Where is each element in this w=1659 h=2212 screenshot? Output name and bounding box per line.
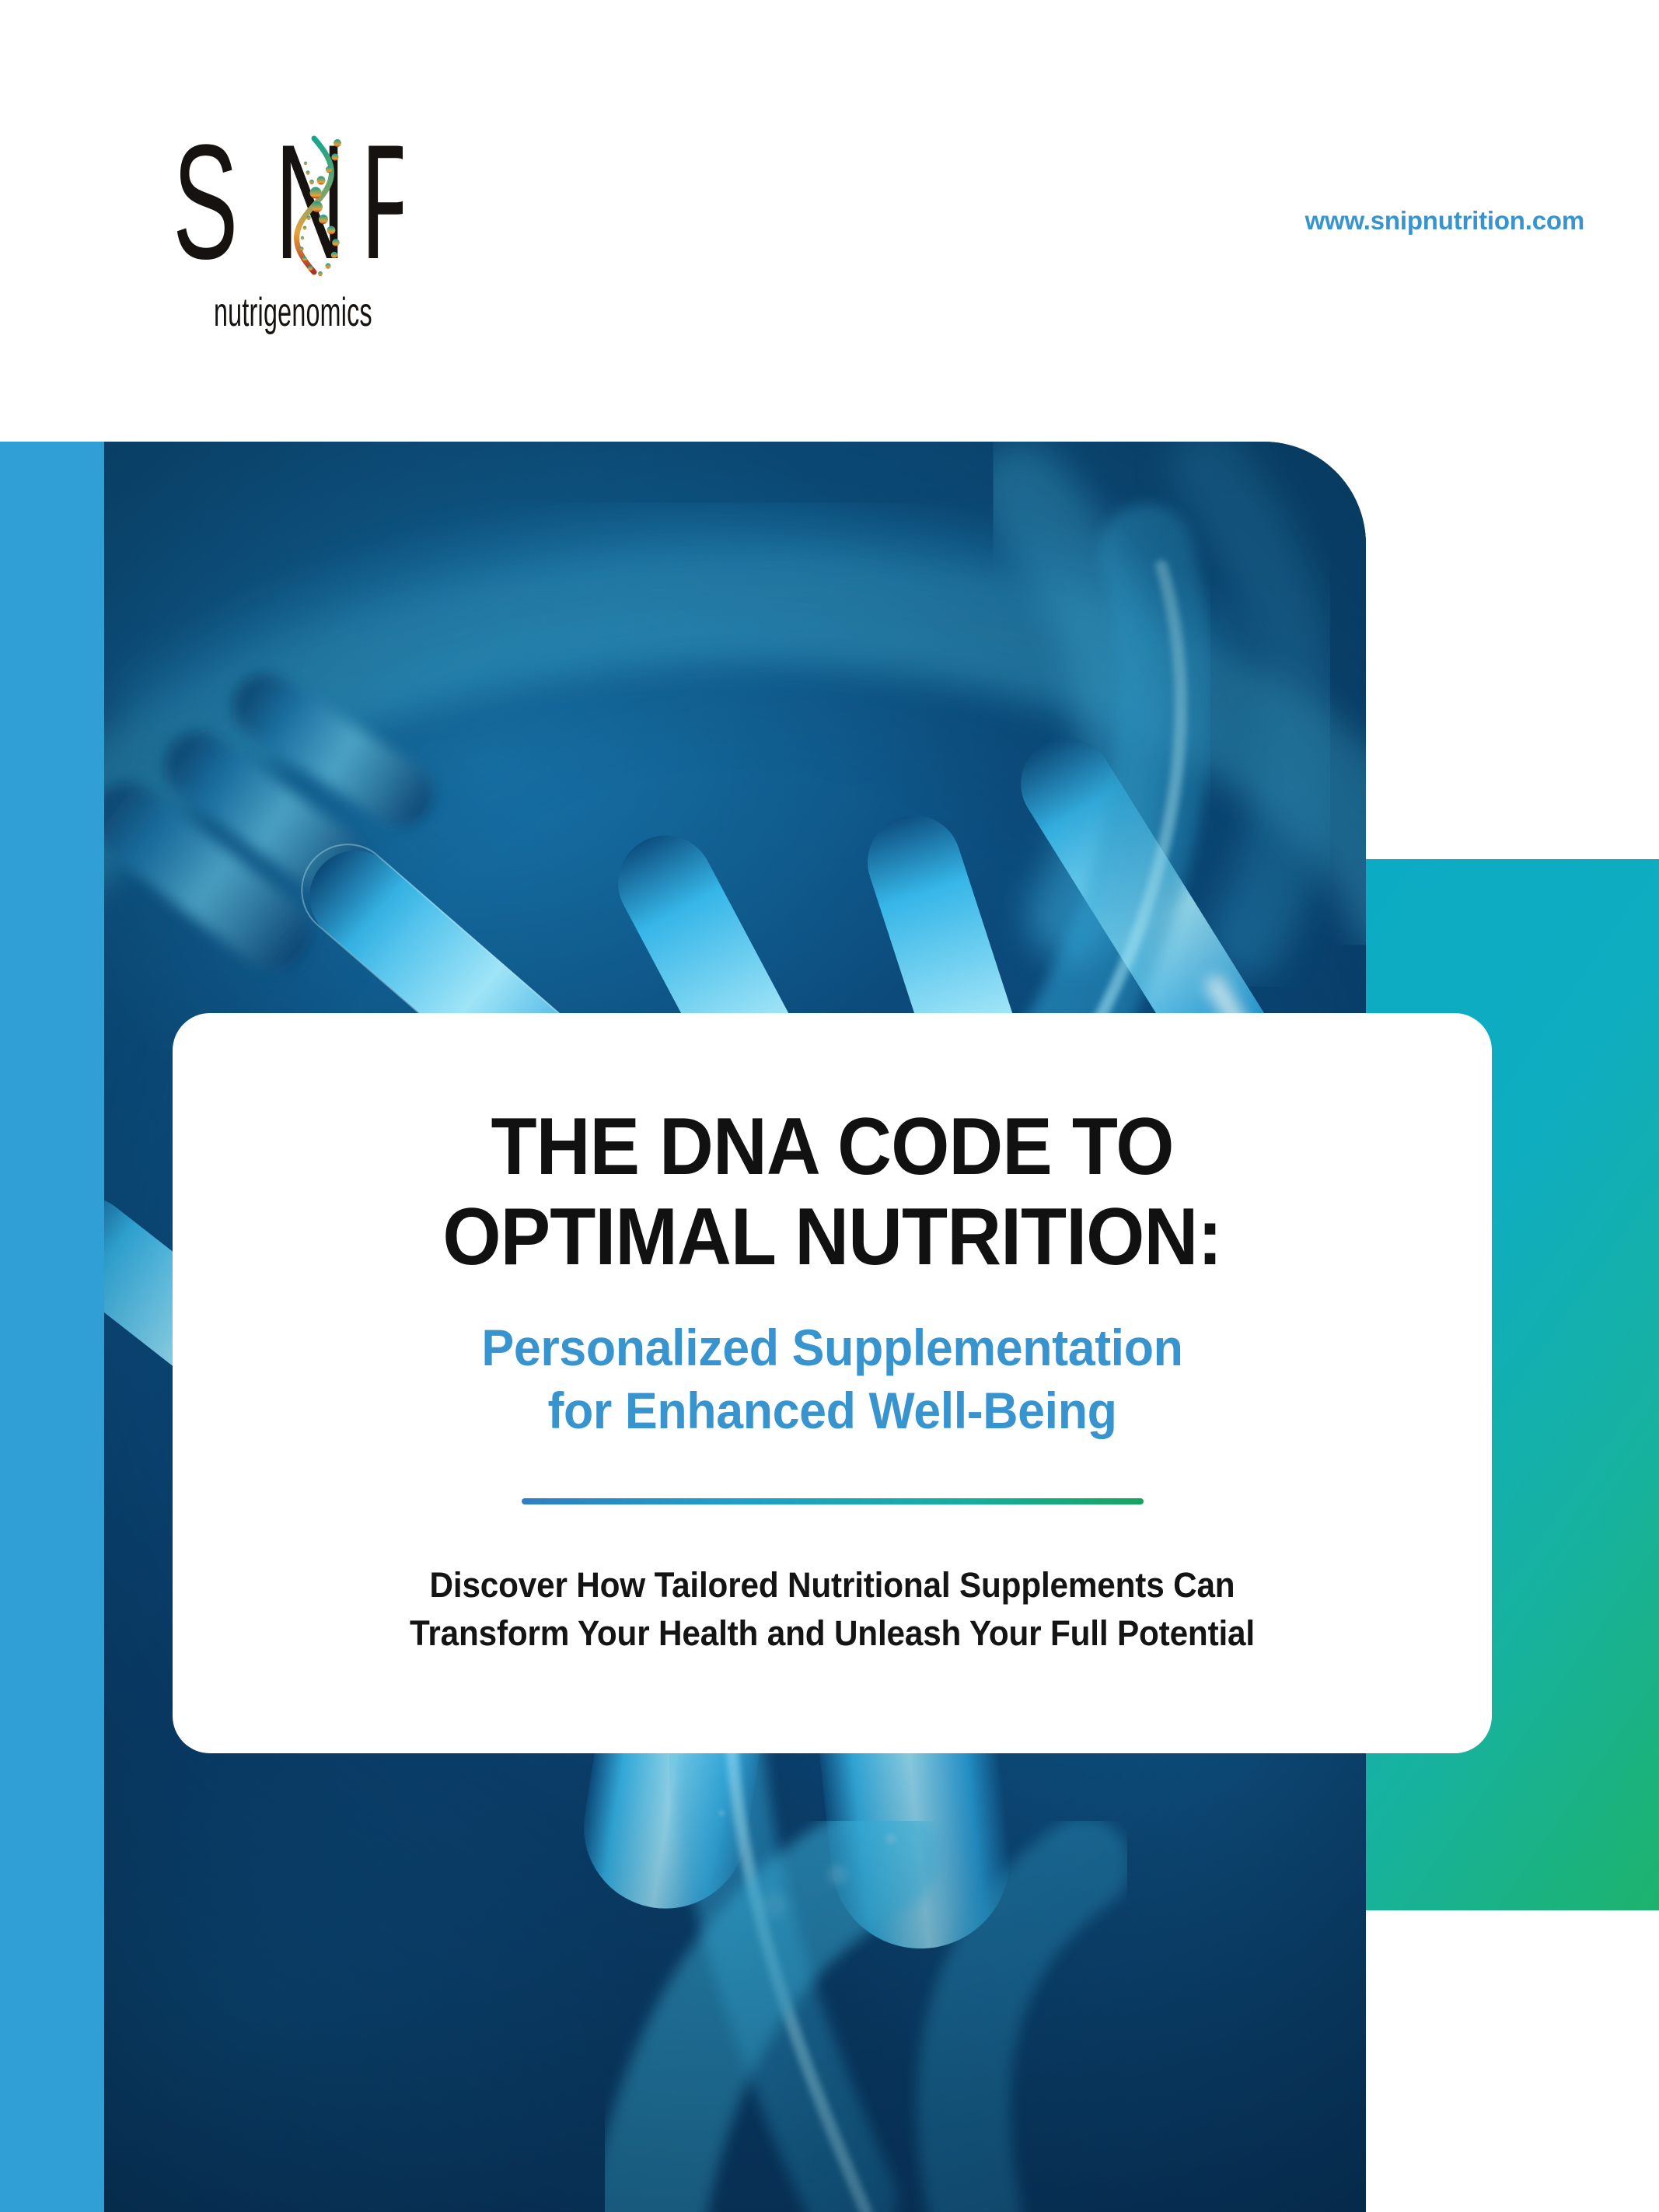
headline-line-2: OPTIMAL NUTRITION: [218, 1192, 1445, 1282]
title-card: THE DNA CODE TO OPTIMAL NUTRITION: Perso… [173, 1013, 1492, 1753]
svg-text:P: P [361, 124, 403, 284]
headline-line-1: THE DNA CODE TO [491, 1102, 1173, 1192]
subhead-line-2: for Enhanced Well-Being [205, 1379, 1458, 1442]
svg-text:N: N [275, 124, 345, 284]
logo-tagline: nutrigenomics [214, 289, 358, 336]
logo-mark: S N P [169, 124, 403, 284]
website-url[interactable]: www.snipnutrition.com [1305, 206, 1584, 236]
svg-text:S: S [173, 124, 237, 284]
page-tagline: Discover How Tailored Nutritional Supple… [212, 1561, 1452, 1657]
snp-wordmark-icon: S N P [169, 124, 403, 284]
brand-logo[interactable]: S N P [169, 124, 410, 350]
page-subtitle: Personalized Supplementation for Enhance… [205, 1316, 1458, 1442]
cover-page: S N P [0, 0, 1659, 2212]
page-title: THE DNA CODE TO OPTIMAL NUTRITION: [218, 1102, 1445, 1283]
tagline-line-1: Discover How Tailored Nutritional Supple… [430, 1565, 1235, 1605]
hero-section: THE DNA CODE TO OPTIMAL NUTRITION: Perso… [0, 442, 1659, 2212]
subhead-line-1: Personalized Supplementation [481, 1319, 1182, 1376]
gradient-divider [522, 1498, 1144, 1504]
page-header: S N P [0, 0, 1659, 442]
tagline-line-2: Transform Your Health and Unleash Your F… [212, 1609, 1452, 1658]
left-blue-rail [0, 442, 106, 2212]
